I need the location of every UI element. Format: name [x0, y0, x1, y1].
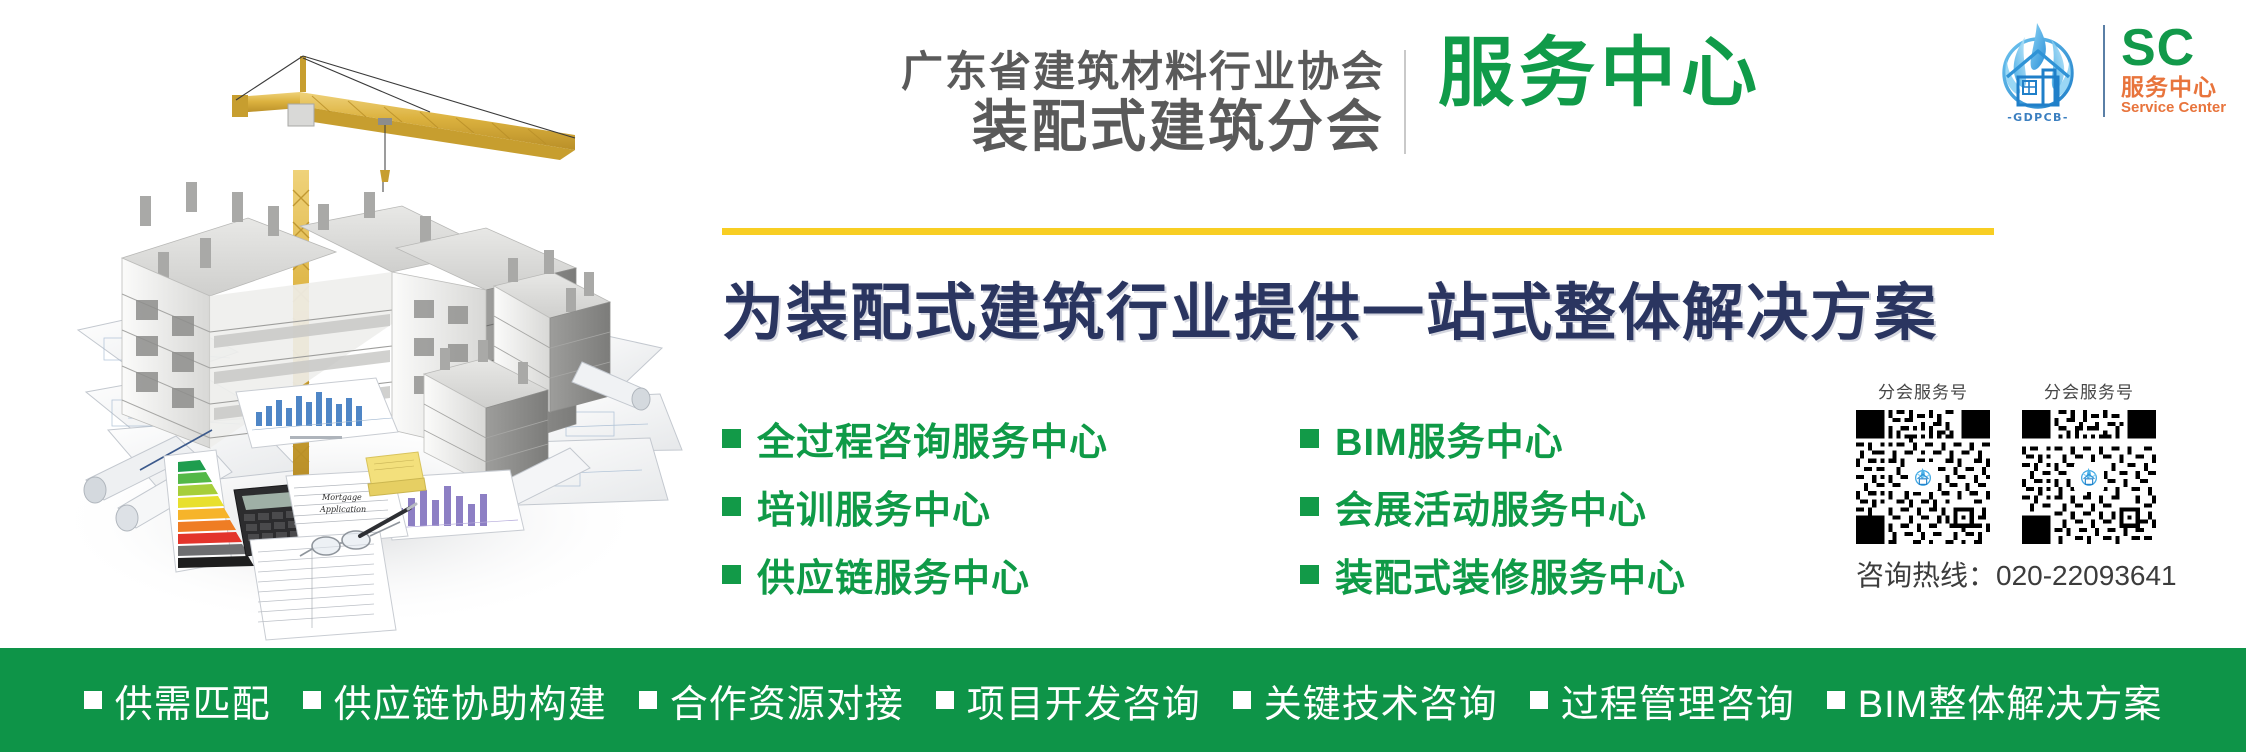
- service-list-item[interactable]: 全过程咨询服务中心: [722, 404, 1300, 472]
- bottom-bar-item-label: 合作资源对接: [670, 673, 904, 728]
- sc-logo: SC 服务中心 Service Center: [2121, 25, 2237, 117]
- association-name-line2: 装配式建筑分会: [840, 96, 1385, 159]
- service-list-column-2: BIM服务中心 会展活动服务中心 装配式装修服务中心: [1300, 404, 1720, 608]
- bottom-bar-item[interactable]: 项目开发咨询: [936, 673, 1201, 728]
- title-divider: [1404, 50, 1406, 154]
- bottom-service-bar: 供需匹配 供应链协助构建 合作资源对接 项目开发咨询 关键技术咨询 过程管理咨询: [0, 648, 2246, 752]
- qr-contact-block: 分会服务号: [1856, 378, 2240, 594]
- bottom-bar-item[interactable]: 合作资源对接: [639, 673, 904, 728]
- svg-text:Mortgage: Mortgage: [321, 493, 362, 502]
- qr-caption: 分会服务号: [1856, 378, 1990, 403]
- hotline-text: 咨询热线：020-22093641: [1856, 554, 2240, 594]
- bottom-bar-item-label: 关键技术咨询: [1264, 673, 1498, 728]
- service-center-title: 服务中心: [1438, 36, 1762, 112]
- square-bullet-icon: [639, 691, 657, 709]
- bottom-bar-item-label: 供应链协助构建: [334, 673, 607, 728]
- bottom-bar-item[interactable]: 供应链协助构建: [303, 673, 607, 728]
- yellow-divider-rule: [722, 228, 1994, 235]
- square-bullet-icon: [1300, 429, 1319, 448]
- qr-caption: 分会服务号: [2022, 378, 2156, 403]
- square-bullet-icon: [1530, 691, 1548, 709]
- sc-english-label: Service Center: [2121, 100, 2226, 117]
- sc-chinese-label: 服务中心: [2121, 75, 2217, 100]
- sc-letters: SC: [2121, 25, 2195, 73]
- bottom-bar-item[interactable]: BIM整体解决方案: [1827, 673, 2163, 728]
- service-list-item[interactable]: 供应链服务中心: [722, 540, 1300, 608]
- banner-root: Mortgage Application: [0, 0, 2246, 752]
- bottom-bar-item-label: 过程管理咨询: [1561, 673, 1795, 728]
- bottom-bar-items: 供需匹配 供应链协助构建 合作资源对接 项目开发咨询 关键技术咨询 过程管理咨询: [84, 673, 2163, 728]
- square-bullet-icon: [1233, 691, 1251, 709]
- bottom-bar-item-label: BIM整体解决方案: [1858, 673, 2163, 728]
- construction-illustration: Mortgage Application: [0, 0, 700, 650]
- square-bullet-icon: [1300, 565, 1319, 584]
- bottom-bar-item-label: 项目开发咨询: [967, 673, 1201, 728]
- qr-row: 分会服务号: [1856, 378, 2240, 544]
- bottom-bar-item[interactable]: 关键技术咨询: [1233, 673, 1498, 728]
- bottom-bar-item-label: 供需匹配: [115, 673, 271, 728]
- service-list-item-label: 供应链服务中心: [757, 547, 1030, 602]
- square-bullet-icon: [936, 691, 954, 709]
- gdpcb-logo: -GDPCB-: [1985, 15, 2091, 127]
- service-list-item-label: 装配式装修服务中心: [1335, 547, 1686, 602]
- qr-center-logo: [1908, 462, 1938, 492]
- service-list-item[interactable]: BIM服务中心: [1300, 404, 1720, 472]
- association-name-line1: 广东省建筑材料行业协会: [840, 48, 1385, 96]
- qr-cell: 分会服务号: [2022, 378, 2156, 544]
- service-list-item-label: BIM服务中心: [1335, 411, 1564, 466]
- service-center-list: 全过程咨询服务中心 培训服务中心 供应链服务中心 BIM服务中心 会展活动服务中…: [722, 404, 1722, 608]
- bottom-bar-item[interactable]: 供需匹配: [84, 673, 271, 728]
- qr-center-logo: [2074, 462, 2104, 492]
- square-bullet-icon: [303, 691, 321, 709]
- square-bullet-icon: [722, 497, 741, 516]
- square-bullet-icon: [1827, 691, 1845, 709]
- logo-separator: [2103, 25, 2105, 117]
- gdpcb-abbrev-text: -GDPCB-: [2007, 111, 2069, 124]
- service-list-item-label: 会展活动服务中心: [1335, 479, 1647, 534]
- service-list-item[interactable]: 培训服务中心: [722, 472, 1300, 540]
- logo-area: -GDPCB- SC 服务中心 Service Center: [1985, 12, 2243, 130]
- svg-text:Application: Application: [319, 505, 366, 514]
- service-list-column-1: 全过程咨询服务中心 培训服务中心 供应链服务中心: [722, 404, 1300, 608]
- association-title-block: 广东省建筑材料行业协会 装配式建筑分会: [840, 48, 1385, 159]
- square-bullet-icon: [1300, 497, 1319, 516]
- service-list-item-label: 全过程咨询服务中心: [757, 411, 1108, 466]
- qr-code-2[interactable]: [2022, 410, 2156, 544]
- square-bullet-icon: [722, 429, 741, 448]
- bottom-bar-item[interactable]: 过程管理咨询: [1530, 673, 1795, 728]
- banner-subtitle: 为装配式建筑行业提供一站式整体解决方案: [722, 262, 1938, 352]
- qr-code-1[interactable]: [1856, 410, 1990, 544]
- service-list-item[interactable]: 装配式装修服务中心: [1300, 540, 1720, 608]
- service-list-item[interactable]: 会展活动服务中心: [1300, 472, 1720, 540]
- qr-cell: 分会服务号: [1856, 378, 1990, 544]
- square-bullet-icon: [722, 565, 741, 584]
- service-list-item-label: 培训服务中心: [757, 479, 991, 534]
- square-bullet-icon: [84, 691, 102, 709]
